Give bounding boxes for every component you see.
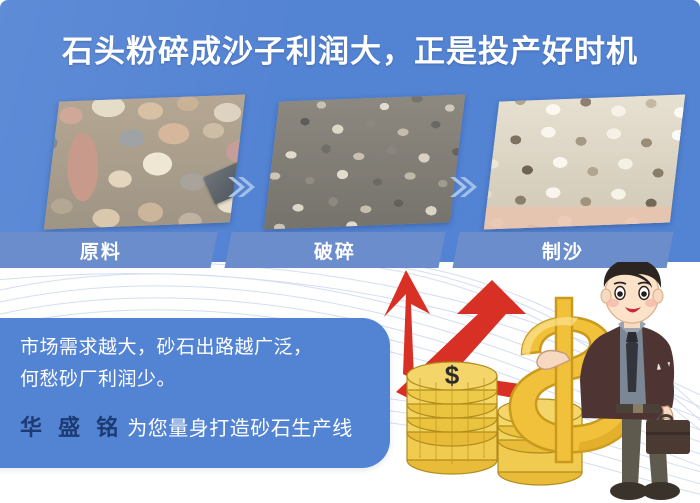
white-sand-texture (484, 94, 685, 229)
svg-text:$: $ (445, 360, 460, 390)
message-line-2: 何愁砂厂利润少。 (20, 364, 176, 391)
river-pebbles-texture (44, 94, 245, 229)
brand-tagline: 华 盛 铭 为您量身打造砂石生产线 (20, 410, 353, 442)
step-label-text: 原料 (80, 237, 122, 264)
promo-banner: 石头粉碎成沙子利润大，正是投产好时机 (0, 0, 700, 503)
step-label-text: 破碎 (314, 237, 356, 264)
sand-making-photo (484, 94, 685, 229)
double-chevron-right-icon (222, 170, 256, 204)
photo-inner (44, 94, 245, 229)
message-panel: 市场需求越大，砂石出路越广泛， 何愁砂厂利润少。 华 盛 铭 为您量身打造砂石生… (0, 318, 390, 468)
photo-inner (484, 94, 685, 229)
raw-material-photo (44, 94, 245, 229)
message-line-1: 市场需求越大，砂石出路越广泛， (20, 332, 313, 359)
step-label-text: 制沙 (542, 237, 584, 264)
businessman-with-money-illustration: $ $ (370, 262, 700, 503)
step-label-raw-material: 原料 (0, 232, 217, 268)
photo-inner (264, 94, 465, 229)
brand-tagline-text: 为您量身打造砂石生产线 (127, 412, 353, 441)
double-chevron-right-icon (444, 170, 478, 204)
crushing-photo (264, 94, 465, 229)
coin-stack-icon: $ (407, 360, 497, 474)
crushed-gravel-texture (264, 94, 465, 229)
brand-name: 华 盛 铭 (20, 410, 123, 442)
briefcase-icon (646, 416, 690, 455)
page-title: 石头粉碎成沙子利润大，正是投产好时机 (0, 20, 700, 76)
